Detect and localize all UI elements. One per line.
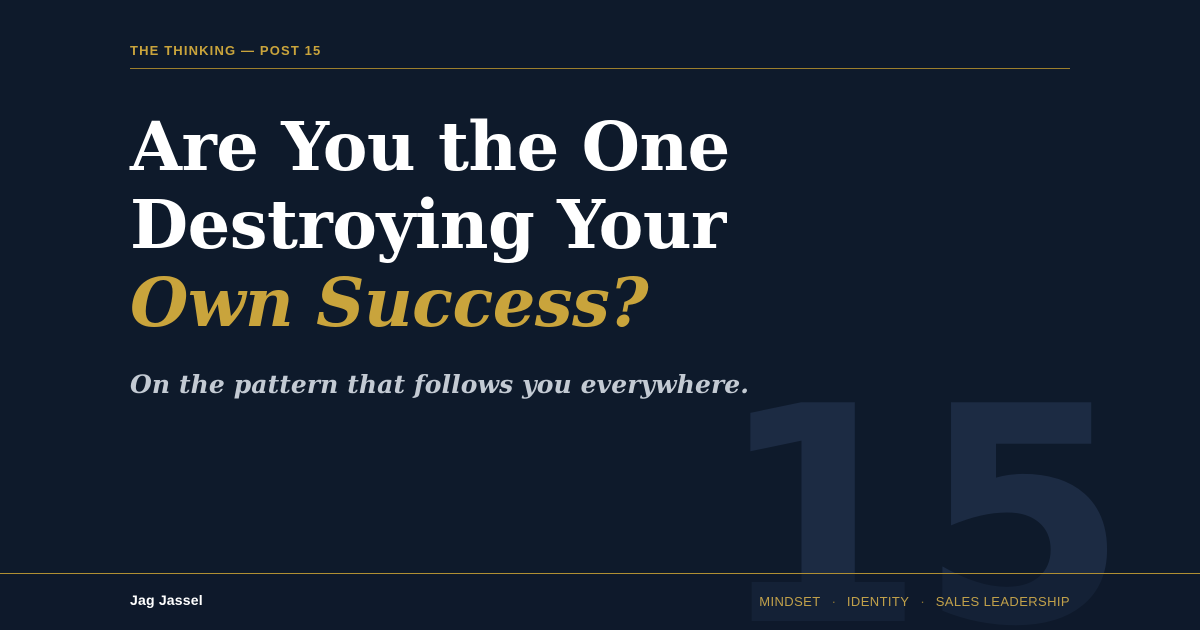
author-name: Jag Jassel [130, 592, 203, 608]
footer-tag-mindset: MINDSET [759, 594, 820, 609]
headline-line-1: Are You the One [130, 107, 730, 186]
footer-tag-separator-1: · [821, 594, 847, 609]
footer-bar: Jag Jassel MINDSET · IDENTITY · SALES LE… [0, 574, 1200, 630]
page-title: Are You the One Destroying Your Own Succ… [130, 108, 850, 342]
eyebrow-divider [130, 68, 1070, 69]
footer-tag-list: MINDSET · IDENTITY · SALES LEADERSHIP [759, 594, 1070, 609]
headline-line-3-accent: Own Success? [130, 264, 850, 342]
headline-line-2: Destroying Your [130, 185, 726, 264]
subtitle: On the pattern that follows you everywhe… [130, 368, 749, 402]
footer-tag-separator-2: · [909, 594, 935, 609]
footer-tag-identity: IDENTITY [847, 594, 909, 609]
eyebrow-label: THE THINKING — POST 15 [130, 43, 321, 58]
content-column: THE THINKING — POST 15 Are You the One D… [130, 0, 1070, 573]
footer-tag-sales-leadership: SALES LEADERSHIP [936, 594, 1070, 609]
slide-canvas: 15 THE THINKING — POST 15 Are You the On… [0, 0, 1200, 630]
